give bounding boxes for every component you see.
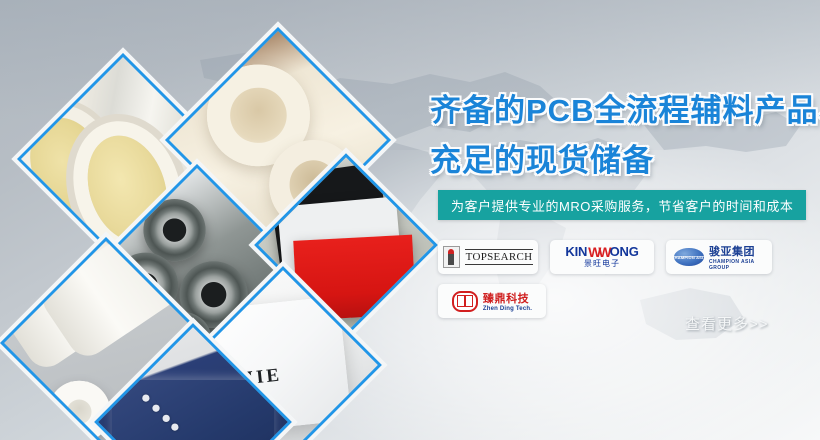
headline-line-2: 充足的现货储备 bbox=[430, 136, 820, 186]
zhen-ding-logo-icon bbox=[452, 291, 478, 312]
kinwong-wordmark-a: KIN bbox=[565, 245, 587, 259]
partner-logo-zhen-ding[interactable]: 臻鼎科技 Zhen Ding Tech. bbox=[438, 284, 546, 318]
kinwong-chinese-name: 景旺电子 bbox=[584, 259, 620, 269]
zhen-ding-english-name: Zhen Ding Tech. bbox=[483, 306, 532, 312]
promo-banner: JIE 齐备的PCB全流程辅料产品、 充足的现货储备 为客户提供专业的MRO采购… bbox=[0, 0, 820, 440]
topsearch-logo-icon bbox=[443, 246, 460, 268]
kinwong-w-mark: WW bbox=[588, 245, 608, 259]
champion-asia-globe-text: CHAMPION ASIA bbox=[674, 255, 704, 260]
banner-headline: 齐备的PCB全流程辅料产品、 充足的现货储备 bbox=[430, 86, 820, 186]
product-image-collage: JIE bbox=[0, 0, 420, 440]
champion-asia-english-name: CHAMPION ASIA GROUP bbox=[709, 259, 764, 271]
partner-logo-topsearch[interactable]: TOPSEARCH bbox=[438, 240, 538, 274]
topsearch-wordmark: TOPSEARCH bbox=[465, 249, 534, 265]
headline-line-1: 齐备的PCB全流程辅料产品、 bbox=[430, 93, 820, 128]
champion-asia-globe-icon: CHAMPION ASIA bbox=[674, 248, 704, 266]
banner-content: 齐备的PCB全流程辅料产品、 充足的现货储备 为客户提供专业的MRO采购服务，节… bbox=[430, 0, 820, 440]
zhen-ding-chinese-name: 臻鼎科技 bbox=[483, 290, 532, 306]
champion-asia-chinese-name: 骏亚集团 bbox=[709, 243, 764, 259]
partner-logo-kinwong[interactable]: KINWWONG 景旺电子 bbox=[550, 240, 654, 274]
zhen-ding-text-block: 臻鼎科技 Zhen Ding Tech. bbox=[483, 290, 532, 312]
kinwong-wordmark-b: ONG bbox=[610, 245, 639, 259]
view-more-link[interactable]: 查看更多>> bbox=[685, 313, 769, 334]
banner-subtitle-text: 为客户提供专业的MRO采购服务，节省客户的时间和成本 bbox=[451, 196, 793, 215]
partner-logo-champion-asia[interactable]: CHAMPION ASIA 骏亚集团 CHAMPION ASIA GROUP bbox=[666, 240, 772, 274]
champion-asia-text-block: 骏亚集团 CHAMPION ASIA GROUP bbox=[709, 243, 764, 271]
partner-logo-row-1: TOPSEARCH KINWWONG 景旺电子 CHAMPION ASIA 骏亚… bbox=[438, 240, 820, 274]
banner-subtitle-bar: 为客户提供专业的MRO采购服务，节省客户的时间和成本 bbox=[438, 190, 806, 220]
kinwong-logo-icon: KINWWONG bbox=[565, 245, 638, 259]
